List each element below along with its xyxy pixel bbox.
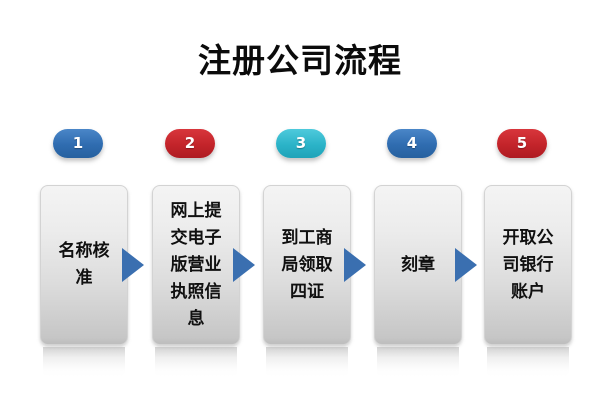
flow-step-4: 4 刻章 xyxy=(374,0,486,400)
step-card-label-4: 刻章 xyxy=(388,252,448,279)
step-card-2[interactable]: 网上提交电子版营业执照信息 xyxy=(152,185,240,345)
flow-step-5: 5 开取公司银行账户 xyxy=(484,0,596,400)
step-number-badge-3: 3 xyxy=(276,129,326,158)
step-card-reflection-5 xyxy=(487,347,569,377)
step-card-1[interactable]: 名称核准 xyxy=(40,185,128,345)
step-card-label-2: 网上提交电子版营业执照信息 xyxy=(166,198,226,333)
flow-step-3: 3 到工商局领取四证 xyxy=(263,0,375,400)
step-card-4[interactable]: 刻章 xyxy=(374,185,462,345)
step-card-5[interactable]: 开取公司银行账户 xyxy=(484,185,572,345)
step-card-reflection-2 xyxy=(155,347,237,377)
arrow-3-to-4-icon xyxy=(344,248,366,282)
process-flow-infographic: 注册公司流程 1 名称核准 2 网上提交电子版营业执照信息 3 到工商局领取四证… xyxy=(0,0,600,400)
step-card-reflection-3 xyxy=(266,347,348,377)
arrow-2-to-3-icon xyxy=(233,248,255,282)
flow-step-1: 1 名称核准 xyxy=(40,0,152,400)
step-number-badge-4: 4 xyxy=(387,129,437,158)
step-number-badge-1: 1 xyxy=(53,129,103,158)
flow-step-2: 2 网上提交电子版营业执照信息 xyxy=(152,0,264,400)
step-card-reflection-1 xyxy=(43,347,125,377)
step-number-badge-5: 5 xyxy=(497,129,547,158)
step-number-badge-2: 2 xyxy=(165,129,215,158)
step-card-label-5: 开取公司银行账户 xyxy=(498,225,558,306)
step-card-label-1: 名称核准 xyxy=(54,238,114,292)
step-card-3[interactable]: 到工商局领取四证 xyxy=(263,185,351,345)
step-card-reflection-4 xyxy=(377,347,459,377)
step-card-label-3: 到工商局领取四证 xyxy=(277,225,337,306)
arrow-1-to-2-icon xyxy=(122,248,144,282)
arrow-4-to-5-icon xyxy=(455,248,477,282)
